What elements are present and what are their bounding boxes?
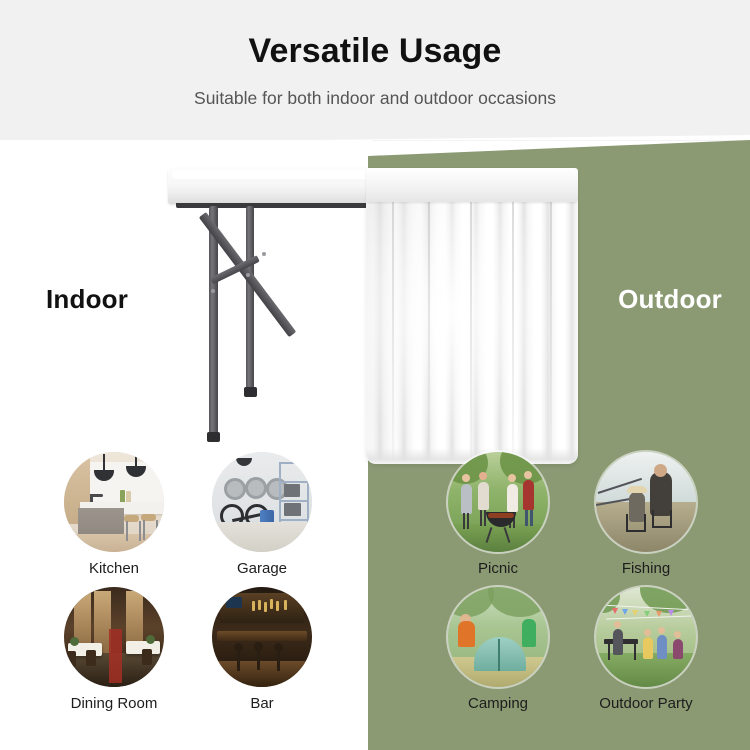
table-leg-inner xyxy=(246,206,254,391)
skirt-fold xyxy=(428,202,430,464)
camping-thumbnail xyxy=(448,587,548,687)
brace-rivet xyxy=(262,252,266,256)
table-foot-inner xyxy=(244,387,257,397)
indoor-category-grid: Kitchen xyxy=(40,452,336,712)
category-label: Fishing xyxy=(622,560,670,577)
fishing-scene xyxy=(596,452,696,552)
skirt-satin-sheen xyxy=(366,200,578,464)
product-image-folding-table xyxy=(0,140,750,470)
fishing-thumbnail xyxy=(596,452,696,552)
skirt-fold xyxy=(470,202,472,464)
outdoor-party-scene xyxy=(596,587,696,687)
outdoor-party-thumbnail xyxy=(596,587,696,687)
category-label: Kitchen xyxy=(89,560,139,577)
dining-room-thumbnail xyxy=(64,587,164,687)
bar-thumbnail xyxy=(212,587,312,687)
page-title: Versatile Usage xyxy=(0,32,750,71)
skirt-fold xyxy=(512,202,514,464)
category-item-bar[interactable]: Bar xyxy=(188,587,336,712)
kitchen-scene xyxy=(64,452,164,552)
category-label: Dining Room xyxy=(71,695,158,712)
category-item-fishing[interactable]: Fishing xyxy=(572,452,720,577)
category-label: Outdoor Party xyxy=(599,695,692,712)
camping-scene xyxy=(448,587,548,687)
category-label: Bar xyxy=(250,695,273,712)
category-item-garage[interactable]: Garage xyxy=(188,452,336,577)
category-item-dining-room[interactable]: Dining Room xyxy=(40,587,188,712)
bar-scene xyxy=(212,587,312,687)
table-skirt xyxy=(366,168,578,464)
category-label: Picnic xyxy=(478,560,518,577)
garage-thumbnail xyxy=(212,452,312,552)
skirt-fold xyxy=(392,202,394,464)
outdoor-category-grid: Picnic Fishing xyxy=(424,452,720,712)
category-item-camping[interactable]: Camping xyxy=(424,587,572,712)
brace-rivet xyxy=(246,273,250,277)
brace-rivet xyxy=(211,289,215,293)
kitchen-thumbnail xyxy=(64,452,164,552)
table-foot-outer xyxy=(207,432,220,442)
skirt-waistband xyxy=(366,168,578,202)
page-subtitle: Suitable for both indoor and outdoor occ… xyxy=(0,88,750,109)
banner-header: Versatile Usage Suitable for both indoor… xyxy=(0,0,750,148)
category-label: Garage xyxy=(237,560,287,577)
garage-scene xyxy=(212,452,312,552)
picnic-scene xyxy=(448,452,548,552)
dining-room-scene xyxy=(64,587,164,687)
category-label: Camping xyxy=(468,695,528,712)
category-item-kitchen[interactable]: Kitchen xyxy=(40,452,188,577)
category-item-outdoor-party[interactable]: Outdoor Party xyxy=(572,587,720,712)
skirt-fold xyxy=(550,202,552,464)
category-item-picnic[interactable]: Picnic xyxy=(424,452,572,577)
picnic-thumbnail xyxy=(448,452,548,552)
product-feature-banner: Versatile Usage Suitable for both indoor… xyxy=(0,0,750,750)
